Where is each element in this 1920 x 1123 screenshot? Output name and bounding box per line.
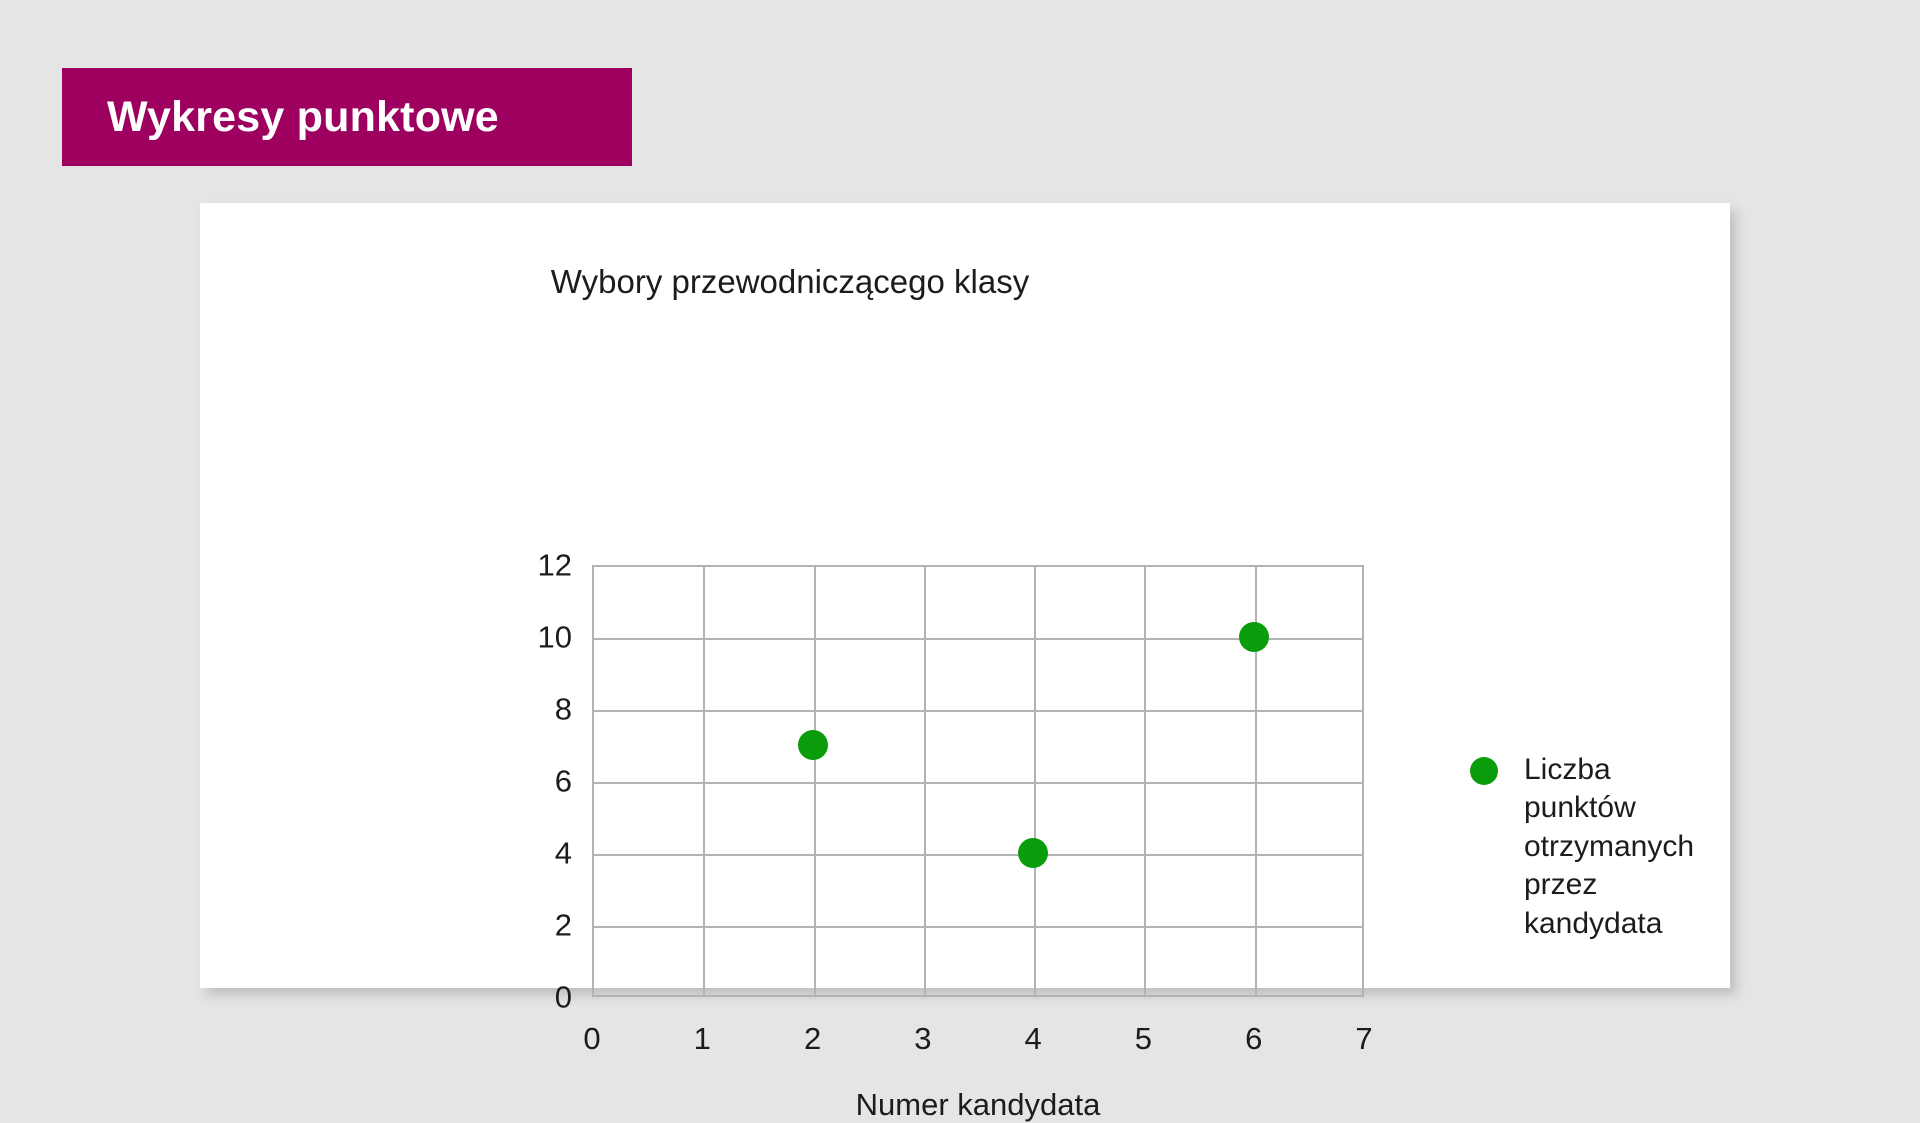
chart-title: Wybory przewodniczącego klasy	[200, 263, 1380, 301]
y-axis-tick-label: 6	[512, 766, 572, 797]
x-axis-tick-label: 2	[783, 1023, 843, 1054]
x-axis-tick-label: 5	[1113, 1023, 1173, 1054]
x-axis-tick-label: 7	[1334, 1023, 1394, 1054]
x-axis-tick-label: 1	[672, 1023, 732, 1054]
data-point	[1239, 622, 1269, 652]
legend-label: Liczba punktów otrzymanych przez kandyda…	[1524, 751, 1730, 943]
data-point	[798, 730, 828, 760]
x-axis-tick-label: 6	[1224, 1023, 1284, 1054]
x-axis-tick-label: 0	[562, 1023, 622, 1054]
grid-line-horizontal	[594, 926, 1362, 928]
y-axis-tick-label: 12	[512, 550, 572, 581]
data-point	[1018, 838, 1048, 868]
grid-line-vertical	[703, 567, 705, 995]
x-axis-tick-label: 4	[1003, 1023, 1063, 1054]
y-axis-tick-label: 0	[512, 982, 572, 1013]
y-axis-tick-labels: 024681012	[500, 565, 572, 997]
chart-card: Wybory przewodniczącego klasy 024681012 …	[200, 203, 1730, 988]
grid-line-vertical	[924, 567, 926, 995]
grid-line-vertical	[1144, 567, 1146, 995]
grid-line-horizontal	[594, 710, 1362, 712]
grid-line-vertical	[814, 567, 816, 995]
x-axis-title: Numer kandydata	[592, 1087, 1364, 1123]
x-axis-tick-label: 3	[893, 1023, 953, 1054]
grid-line-horizontal	[594, 854, 1362, 856]
x-axis-tick-labels: 01234567	[592, 1023, 1364, 1063]
legend-marker-icon	[1470, 757, 1498, 785]
chart-legend: Liczba punktów otrzymanych przez kandyda…	[1470, 751, 1730, 943]
y-axis-tick-label: 2	[512, 910, 572, 941]
y-axis-tick-label: 4	[512, 838, 572, 869]
plot-area	[592, 565, 1364, 997]
grid-line-horizontal	[594, 782, 1362, 784]
y-axis-tick-label: 8	[512, 694, 572, 725]
y-axis-tick-label: 10	[512, 622, 572, 653]
header-banner: Wykresy punktowe	[62, 68, 632, 166]
page-title: Wykresy punktowe	[107, 96, 499, 139]
grid-line-vertical	[1034, 567, 1036, 995]
